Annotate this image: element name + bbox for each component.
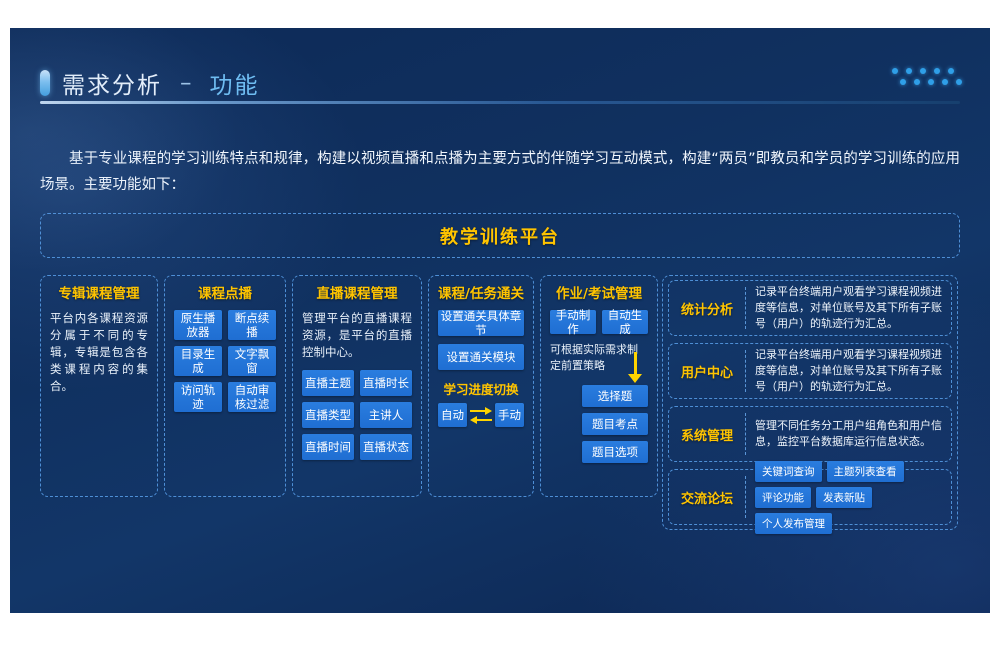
feature-button[interactable]: 直播类型 <box>302 402 354 428</box>
feature-button[interactable]: 目录生成 <box>174 346 222 376</box>
page-title: 需求分析 <box>62 66 162 100</box>
module-label: 系统管理 <box>669 425 745 444</box>
swap-arrows-icon <box>470 407 492 424</box>
dot-icon <box>906 68 912 74</box>
feature-button[interactable]: 题目考点 <box>582 413 648 435</box>
feature-button[interactable]: 自动审核过滤 <box>228 382 276 412</box>
column-description: 平台内各课程资源分属于不同的专辑，专辑是包含各类课程内容的集合。 <box>50 310 148 395</box>
slide-canvas: 需求分析 – 功能 基于专业课程的学习训练特点和规律，构建以视频直播和点播为主要… <box>10 28 990 613</box>
question-flow-stack: 选择题 题目考点 题目选项 <box>582 385 648 463</box>
forum-tag[interactable]: 评论功能 <box>755 487 811 508</box>
column-course-task-clearance: 课程/任务通关 设置通关具体章节 设置通关模块 学习进度切换 自动 手动 <box>428 275 534 497</box>
module-row-user-center: 用户中心 记录平台终端用户观看学习课程视频进度等信息，对单位账号及其下所有子账号… <box>668 343 952 399</box>
forum-tag[interactable]: 发表新贴 <box>816 487 872 508</box>
progress-switch-title: 学习进度切换 <box>443 379 518 398</box>
title-separator: – <box>180 70 192 96</box>
feature-button-grid: 原生播放器 断点续播 目录生成 文字飘窗 访问轨迹 自动审核过滤 <box>174 310 276 412</box>
column-homework-exam-management: 作业/考试管理 手动制作 自动生成 可根据实际需求制定前置策略 选择题 题目考点… <box>540 275 658 497</box>
feature-button[interactable]: 访问轨迹 <box>174 382 222 412</box>
module-row-forum: 交流论坛 关键词查询 主题列表查看 评论功能 发表新贴 个人发布管理 <box>668 469 952 525</box>
feature-button[interactable]: 直播状态 <box>360 434 412 460</box>
column-title: 直播课程管理 <box>317 286 398 302</box>
module-description: 记录平台终端用户观看学习课程视频进度等信息，对单位账号及其下所有子账号（用户）的… <box>746 284 951 332</box>
forum-tag-list: 关键词查询 主题列表查看 评论功能 发表新贴 个人发布管理 <box>746 461 951 534</box>
arrow-right-icon <box>470 407 492 415</box>
column-title: 专辑课程管理 <box>59 286 140 302</box>
feature-button[interactable]: 题目选项 <box>582 441 648 463</box>
page-subtitle: 功能 <box>210 66 260 100</box>
dot-icon <box>942 79 948 85</box>
module-label: 交流论坛 <box>669 488 745 507</box>
feature-button-grid: 直播主题 直播时长 直播类型 主讲人 直播时间 直播状态 <box>302 370 412 460</box>
feature-button[interactable]: 设置通关模块 <box>438 344 524 370</box>
slide-header: 需求分析 – 功能 <box>40 66 260 100</box>
column-description: 管理平台的直播课程资源，是平台的直播控制中心。 <box>302 310 412 361</box>
arrow-down-icon <box>622 352 648 383</box>
dot-icon <box>920 68 926 74</box>
dot-icon <box>948 68 954 74</box>
feature-button-grid: 手动制作 自动生成 <box>550 310 648 334</box>
platform-banner: 教学训练平台 <box>40 213 960 258</box>
dot-icon <box>934 68 940 74</box>
column-title: 课程/任务通关 <box>438 286 524 302</box>
module-description: 管理不同任务分工用户组角色和用户信息，监控平台数据库运行信息状态。 <box>746 418 951 450</box>
intro-paragraph: 基于专业课程的学习训练特点和规律，构建以视频直播和点播为主要方式的伴随学习互动模… <box>40 146 960 198</box>
right-module-panel: 统计分析 记录平台终端用户观看学习课程视频进度等信息，对单位账号及其下所有子账号… <box>662 275 958 530</box>
feature-button[interactable]: 直播主题 <box>302 370 354 396</box>
feature-button[interactable]: 选择题 <box>582 385 648 407</box>
column-live-course-management: 直播课程管理 管理平台的直播课程资源，是平台的直播控制中心。 直播主题 直播时长… <box>292 275 422 497</box>
dot-icon <box>956 79 962 85</box>
dot-icon <box>914 79 920 85</box>
header-divider <box>40 101 960 104</box>
column-title: 课程点播 <box>198 286 252 302</box>
feature-button[interactable]: 自动生成 <box>602 310 648 334</box>
platform-banner-title: 教学训练平台 <box>440 223 560 249</box>
progress-switch-toggle[interactable]: 自动 手动 <box>438 403 524 427</box>
module-label: 统计分析 <box>669 299 745 318</box>
header-pill-icon <box>40 70 50 96</box>
module-row-statistics: 统计分析 记录平台终端用户观看学习课程视频进度等信息，对单位账号及其下所有子账号… <box>668 280 952 336</box>
column-title: 作业/考试管理 <box>556 286 642 302</box>
forum-tag[interactable]: 主题列表查看 <box>827 461 904 482</box>
feature-button-stack: 设置通关具体章节 设置通关模块 <box>438 310 524 370</box>
dot-icon <box>900 79 906 85</box>
header-dot-decoration <box>892 68 962 85</box>
forum-tag[interactable]: 个人发布管理 <box>755 513 832 534</box>
dot-icon <box>892 68 898 74</box>
dot-row <box>892 68 962 74</box>
feature-button[interactable]: 直播时长 <box>360 370 412 396</box>
dot-icon <box>928 79 934 85</box>
module-row-system-management: 系统管理 管理不同任务分工用户组角色和用户信息，监控平台数据库运行信息状态。 <box>668 406 952 462</box>
feature-button[interactable]: 手动制作 <box>550 310 596 334</box>
feature-columns: 专辑课程管理 平台内各课程资源分属于不同的专辑，专辑是包含各类课程内容的集合。 … <box>40 275 658 497</box>
module-label: 用户中心 <box>669 362 745 381</box>
column-course-on-demand: 课程点播 原生播放器 断点续播 目录生成 文字飘窗 访问轨迹 自动审核过滤 <box>164 275 286 497</box>
switch-auto-button[interactable]: 自动 <box>438 403 467 427</box>
column-album-course-management: 专辑课程管理 平台内各课程资源分属于不同的专辑，专辑是包含各类课程内容的集合。 <box>40 275 158 497</box>
module-description: 记录平台终端用户观看学习课程视频进度等信息，对单位账号及其下所有子账号（用户）的… <box>746 347 951 395</box>
feature-button[interactable]: 文字飘窗 <box>228 346 276 376</box>
forum-tag[interactable]: 关键词查询 <box>755 461 822 482</box>
dot-row <box>900 79 962 85</box>
feature-button[interactable]: 原生播放器 <box>174 310 222 340</box>
feature-button[interactable]: 设置通关具体章节 <box>438 310 524 336</box>
switch-manual-button[interactable]: 手动 <box>495 403 524 427</box>
feature-button[interactable]: 断点续播 <box>228 310 276 340</box>
feature-button[interactable]: 主讲人 <box>360 402 412 428</box>
feature-button[interactable]: 直播时间 <box>302 434 354 460</box>
arrow-left-icon <box>470 416 492 424</box>
